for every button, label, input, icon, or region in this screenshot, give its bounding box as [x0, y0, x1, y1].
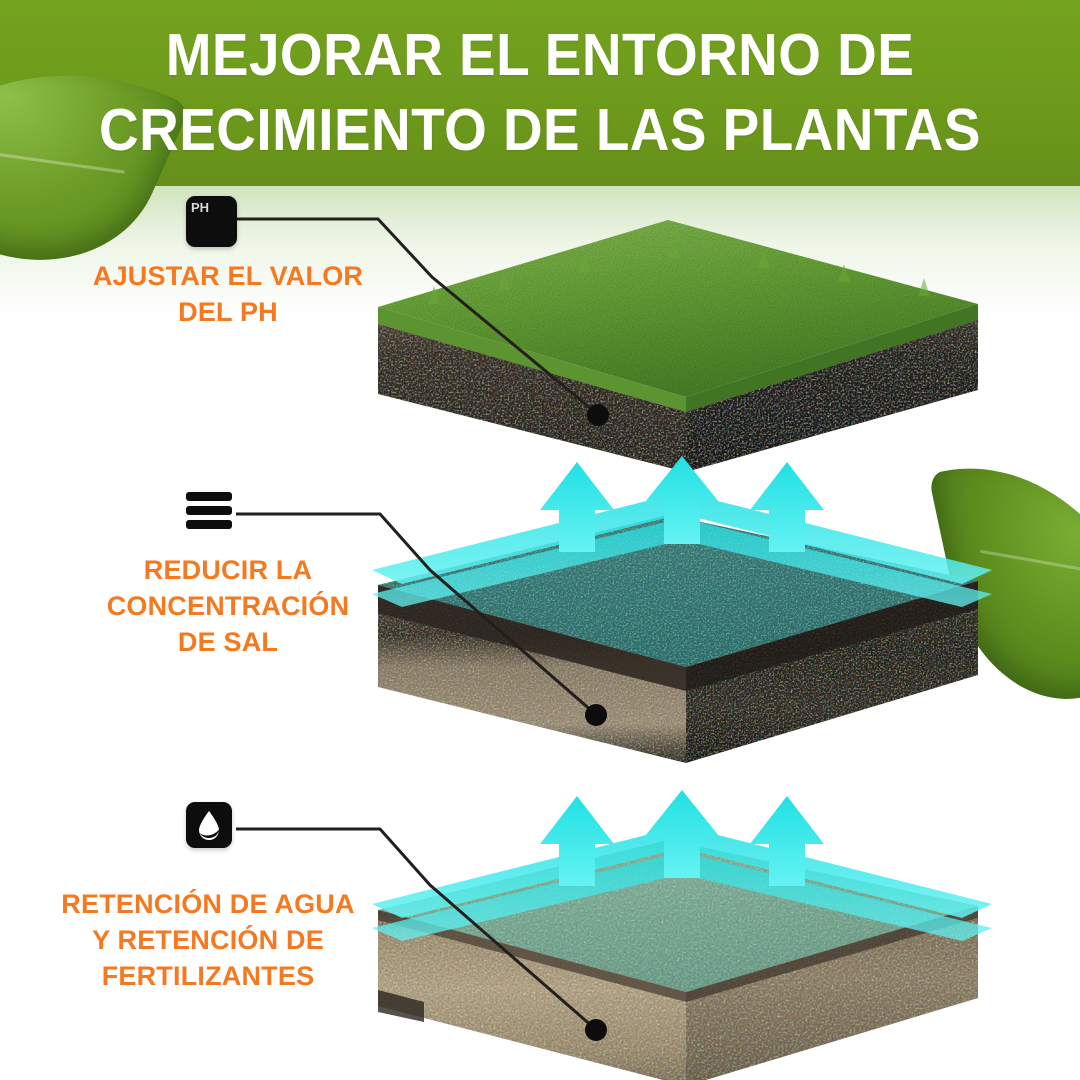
water-drop-icon[interactable] [186, 802, 232, 848]
feature-label-water: RETENCIÓN DE AGUA Y RETENCIÓN DE FERTILI… [28, 886, 388, 994]
layers-icon-bar-2 [186, 506, 232, 515]
feature-label-salt: REDUCIR LA CONCENTRACIÓN DE SAL [48, 552, 408, 660]
page-title: MEJORAR EL ENTORNO DE CRECIMIENTO DE LAS… [38, 18, 1042, 168]
layers-icon-bar-3 [186, 520, 232, 529]
layers-icon-bar-1 [186, 492, 232, 501]
layers-icon[interactable] [186, 487, 232, 533]
ph-icon[interactable]: PH [186, 196, 237, 247]
soil-block-grass [368, 212, 988, 472]
feature-label-ph: AJUSTAR EL VALOR DEL PH [48, 258, 408, 330]
soil-block-sandy [368, 840, 988, 1080]
ph-icon-text: PH [191, 200, 209, 215]
soil-block-dark [368, 515, 988, 780]
infographic-canvas: MEJORAR EL ENTORNO DE CRECIMIENTO DE LAS… [0, 0, 1080, 1080]
